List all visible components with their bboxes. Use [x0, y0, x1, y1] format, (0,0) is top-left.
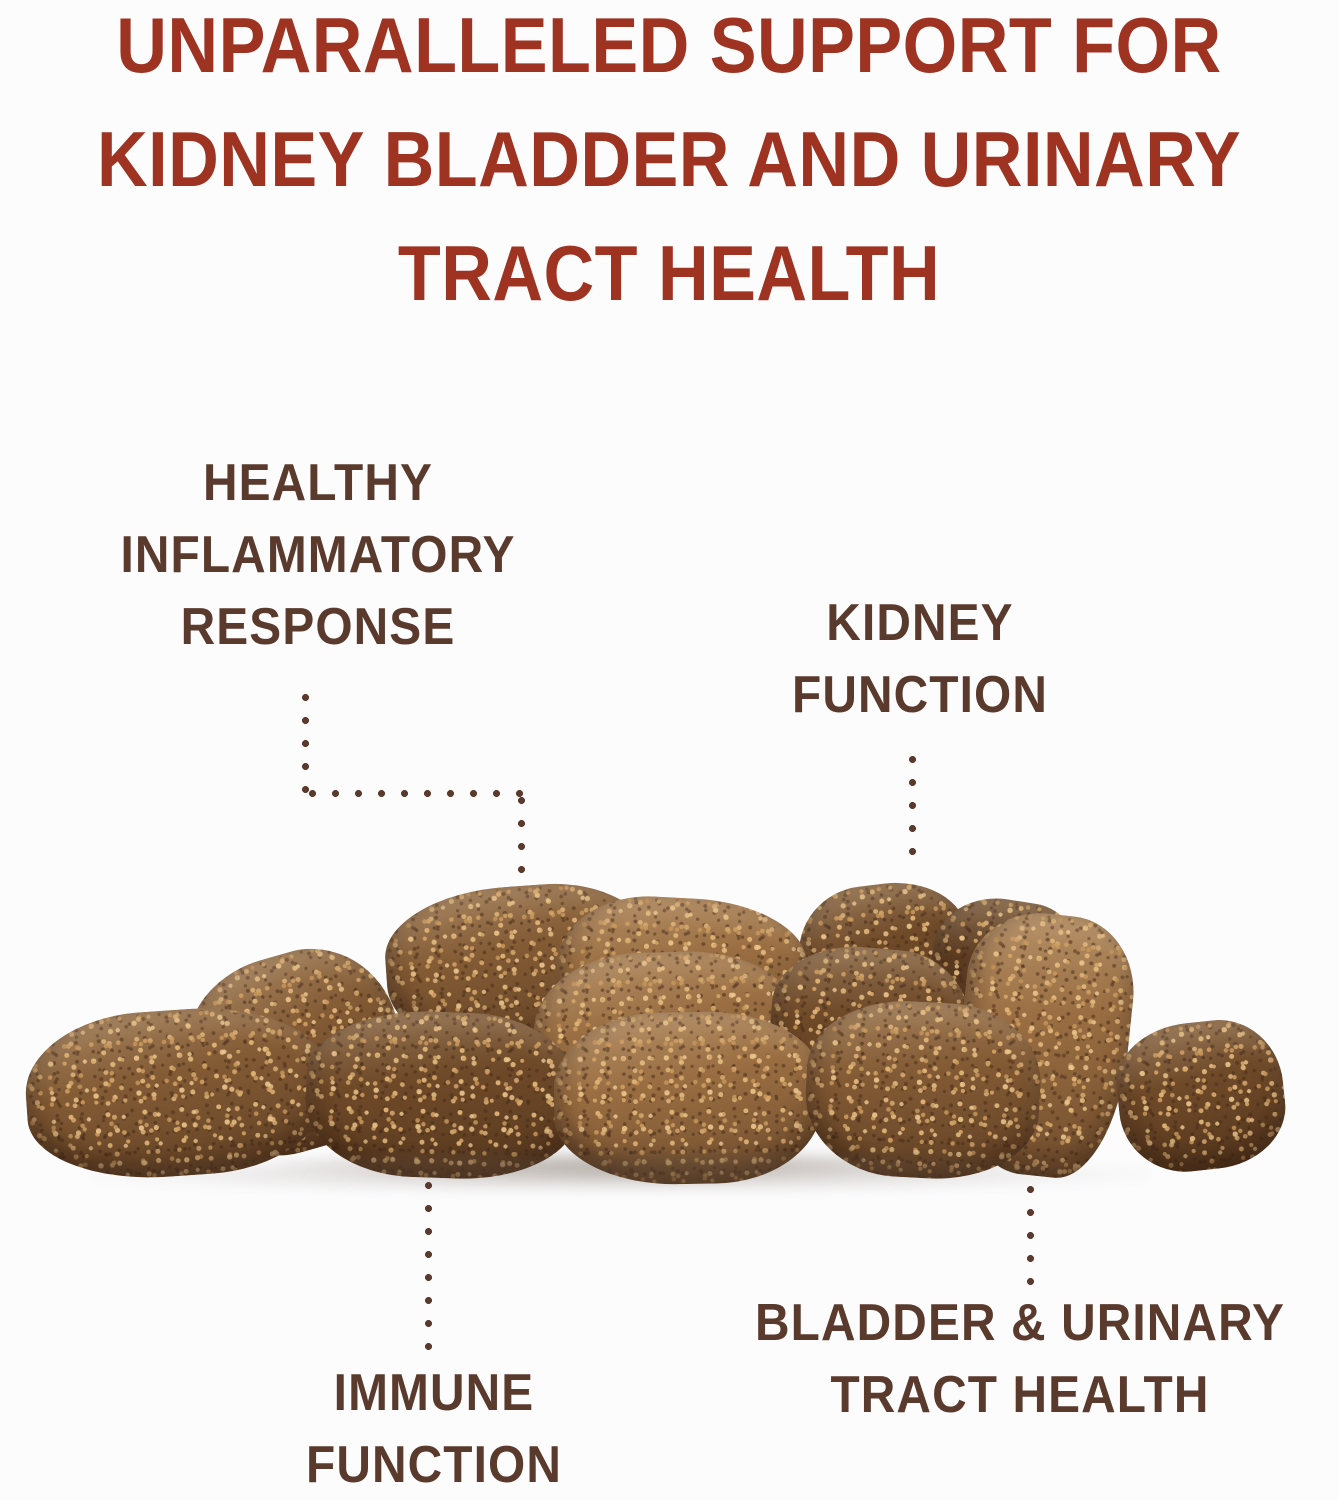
callout-healthy-inflammatory-response: HEALTHY INFLAMMATORY RESPONSE [108, 448, 528, 663]
leader-line-inflammatory-vertical-bottom [517, 789, 526, 885]
leader-line-bladder-urinary [1026, 1178, 1035, 1286]
pile-contact-shadow [280, 1150, 1000, 1176]
headline-line-2: KIDNEY BLADDER AND URINARY [67, 84, 1271, 198]
headline-line-3: TRACT HEALTH [67, 198, 1271, 312]
leader-line-kidney-function [908, 748, 917, 868]
callout-bladder-urinary-tract-health: BLADDER & URINARY TRACT HEALTH [753, 1288, 1287, 1432]
headline-line-1: UNPARALLELED SUPPORT FOR [67, 0, 1271, 84]
kibble-piece [1111, 1014, 1292, 1179]
leader-line-inflammatory-horizontal [301, 789, 527, 798]
callout-immune-function: IMMUNE FUNCTION [259, 1358, 609, 1500]
kibble-pile-image [0, 862, 1338, 1192]
page-title: UNPARALLELED SUPPORT FOR KIDNEY BLADDER … [0, 0, 1338, 312]
leader-line-immune-function [424, 1174, 433, 1354]
infographic-canvas: UNPARALLELED SUPPORT FOR KIDNEY BLADDER … [0, 0, 1338, 1500]
callout-kidney-function: KIDNEY FUNCTION [773, 588, 1067, 732]
leader-line-inflammatory-vertical-top [301, 686, 310, 798]
